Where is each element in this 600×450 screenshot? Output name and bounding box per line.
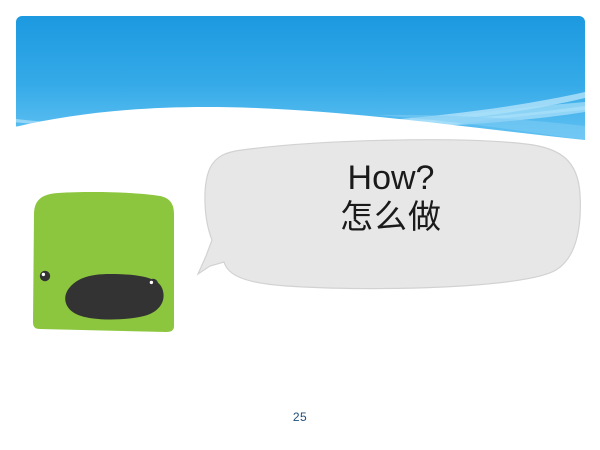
slide-canvas: How? 怎么做 25 (0, 0, 600, 450)
character-right-eye-highlight (150, 281, 153, 284)
speech-bubble-shape (198, 140, 580, 289)
page-number: 25 (0, 410, 600, 424)
green-character (28, 188, 178, 334)
character-left-eye-highlight (42, 273, 45, 276)
header-banner (16, 16, 585, 140)
character-left-eye (40, 271, 50, 281)
speech-bubble (196, 136, 584, 292)
character-right-eye (148, 279, 158, 289)
character-mouth (65, 274, 163, 320)
